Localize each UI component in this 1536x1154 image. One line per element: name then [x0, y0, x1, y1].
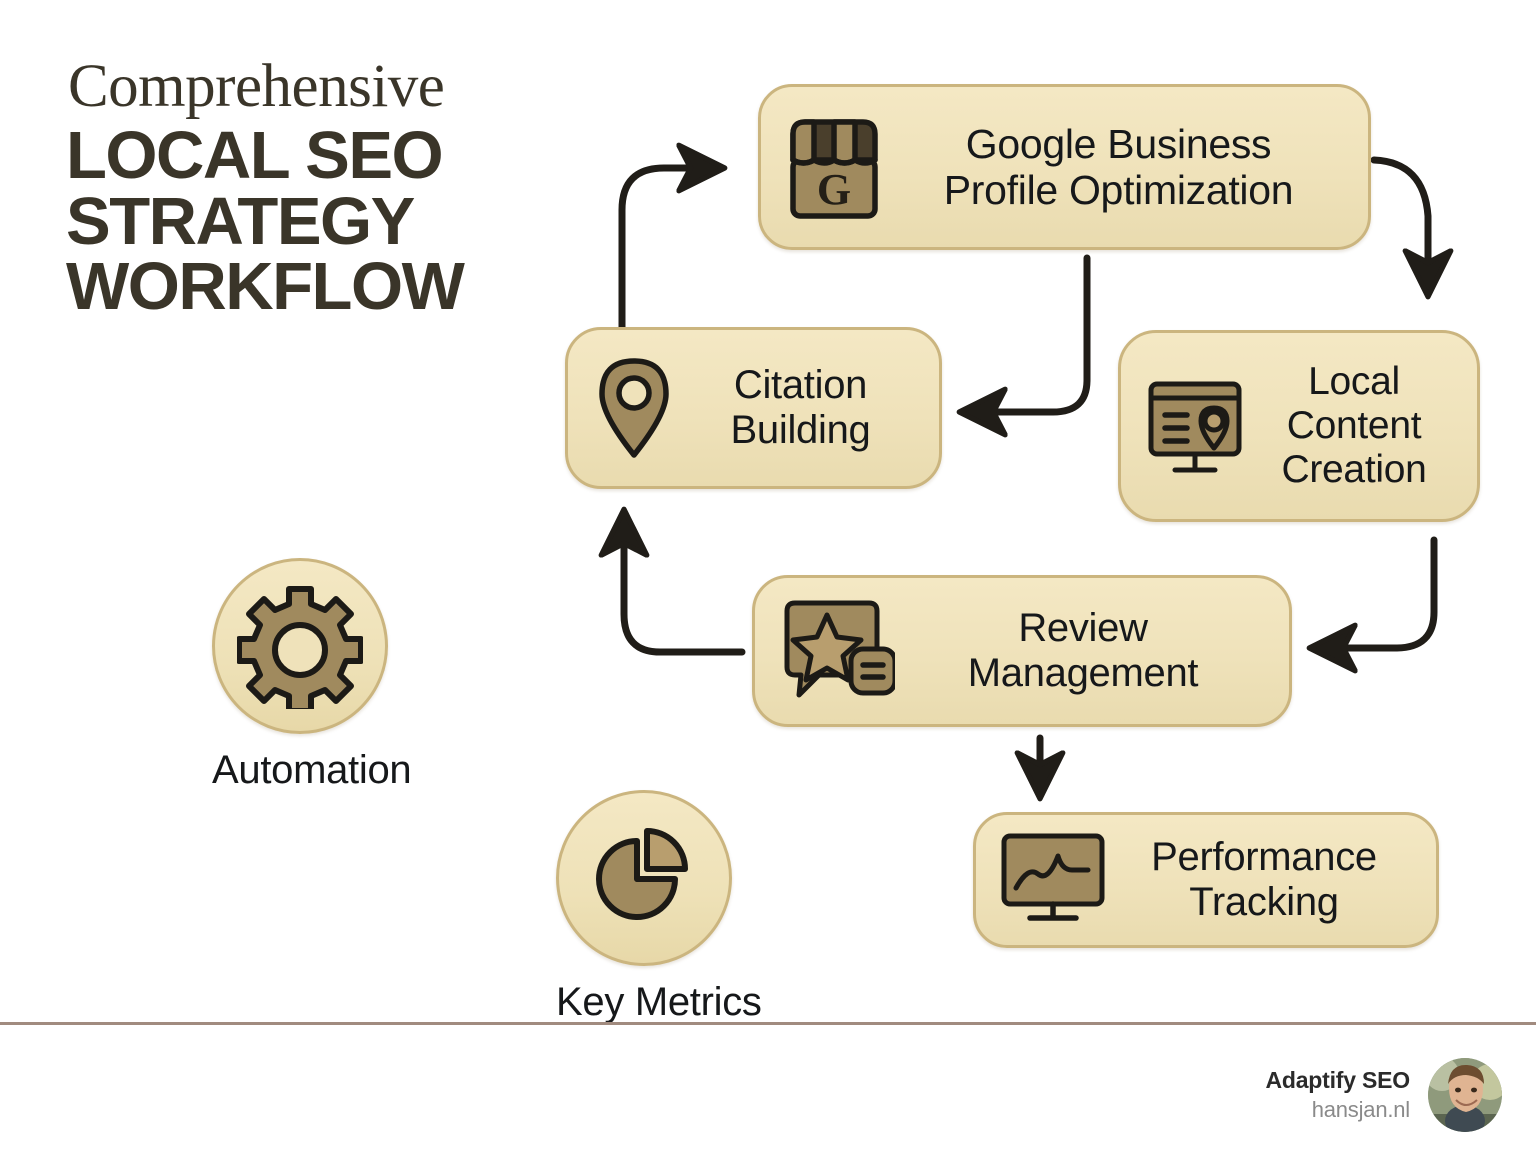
flow-node-performance-tracking[interactable]: Performance Tracking [973, 812, 1439, 948]
label-line-2: Management [901, 651, 1265, 696]
presentation-location-icon [1141, 370, 1249, 482]
badge-label: Automation [212, 748, 388, 793]
flow-node-label: Review Management [895, 606, 1269, 696]
footer: Adaptify SEO hansjan.nl [1265, 1058, 1502, 1132]
infographic-canvas: Comprehensive LOCAL SEO STRATEGY WORKFLO… [0, 0, 1536, 1154]
label-line-2: Profile Optimization [893, 167, 1344, 213]
label-line-1: Google Business [893, 121, 1344, 167]
gear-icon [237, 583, 363, 709]
flow-node-label: Google Business Profile Optimization [887, 121, 1348, 214]
badge-circle [556, 790, 732, 966]
page-title: Comprehensive LOCAL SEO STRATEGY WORKFLO… [66, 56, 586, 320]
flow-node-label: Performance Tracking [1110, 835, 1416, 925]
badge-key-metrics[interactable]: Key Metrics [556, 790, 732, 1025]
flow-node-citation-building[interactable]: Citation Building [565, 327, 942, 489]
title-line-3: WORKFLOW [66, 254, 586, 320]
label-line-1: Citation [686, 363, 915, 408]
label-line-1: Performance [1116, 835, 1412, 880]
site-url: hansjan.nl [1265, 1096, 1410, 1124]
flow-node-local-content-creation[interactable]: Local Content Creation [1118, 330, 1480, 522]
badge-label: Key Metrics [556, 980, 732, 1025]
label-line-1: Review [901, 606, 1265, 651]
brand-name: Adaptify SEO [1265, 1066, 1410, 1095]
map-pin-icon [588, 353, 680, 463]
label-line-1: Local [1255, 360, 1453, 404]
pie-chart-icon [583, 817, 705, 939]
footer-divider [0, 1022, 1536, 1025]
flow-node-label: Citation Building [680, 363, 919, 453]
badge-automation[interactable]: Automation [212, 558, 388, 793]
title-line-2: STRATEGY [66, 189, 586, 255]
storefront-icon: G [781, 112, 887, 222]
flow-node-google-business-profile[interactable]: G Google Business Profile Optimization [758, 84, 1371, 250]
label-line-2: Building [686, 408, 915, 453]
badge-circle [212, 558, 388, 734]
review-star-bubble-icon [775, 597, 895, 705]
label-line-2: Content [1255, 404, 1453, 448]
arrow-lcc-to-review [1318, 540, 1434, 648]
person-avatar [1428, 1058, 1502, 1132]
title-main: LOCAL SEO STRATEGY WORKFLOW [66, 123, 586, 320]
title-script-line: Comprehensive [68, 56, 586, 117]
monitor-chart-icon [996, 830, 1110, 930]
label-line-3: Creation [1255, 448, 1453, 492]
arrow-gbp-to-lcc [1374, 160, 1428, 288]
flow-node-review-management[interactable]: Review Management [752, 575, 1292, 727]
arrow-review-to-citation [624, 518, 742, 652]
storefront-letter: G [817, 165, 851, 214]
footer-text: Adaptify SEO hansjan.nl [1265, 1066, 1410, 1124]
label-line-2: Tracking [1116, 880, 1412, 925]
flow-node-label: Local Content Creation [1249, 360, 1457, 492]
arrow-gbp-to-citation [968, 258, 1087, 412]
title-line-1: LOCAL SEO [66, 123, 586, 189]
